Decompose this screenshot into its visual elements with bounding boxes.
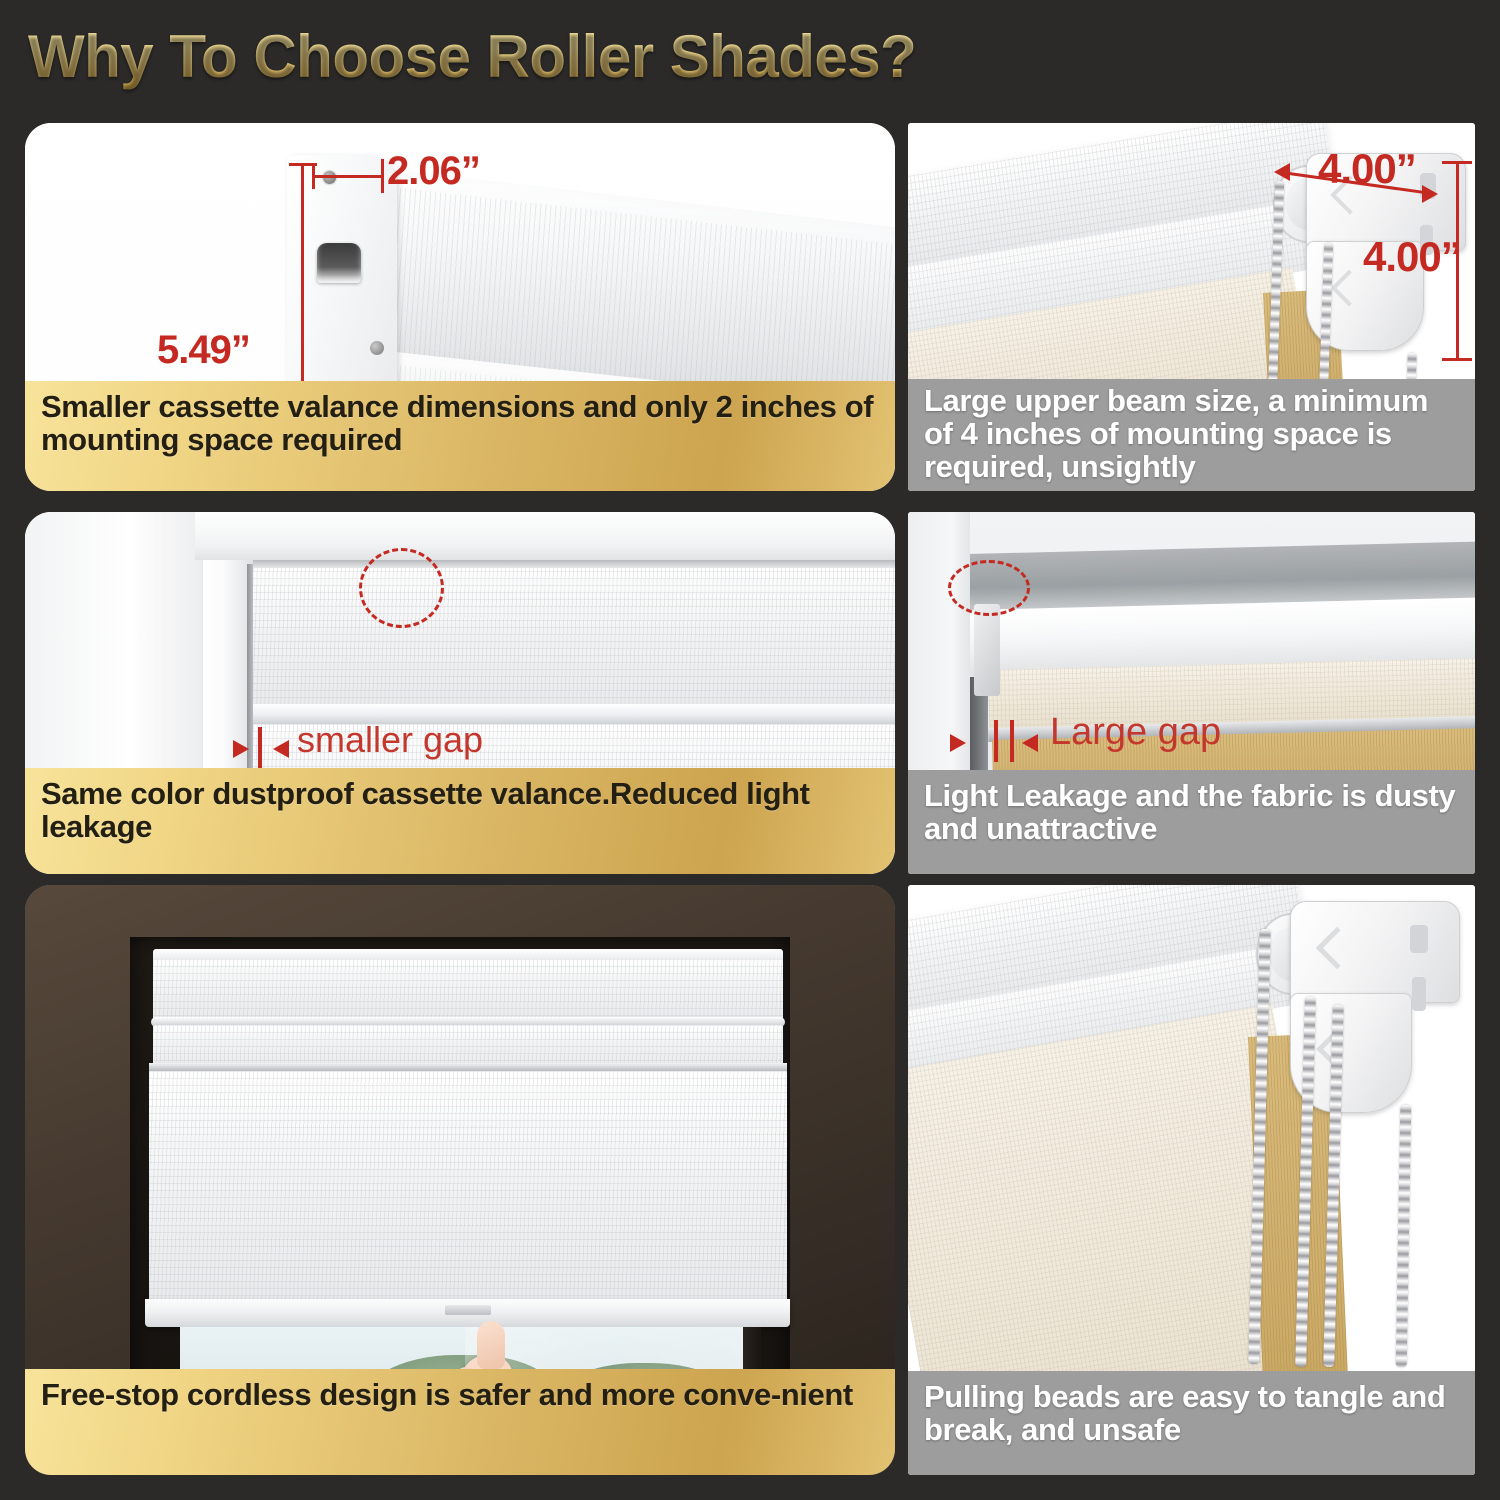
shade-valance (153, 959, 783, 1021)
gap-arrow-left (233, 740, 249, 758)
large-gap-arrow-right (1022, 734, 1038, 752)
dim-width-tick-right (381, 159, 384, 193)
panel-large-beam: 4.00” 4.00” Large upper beam size, a min… (908, 123, 1475, 491)
dim-height-tick-top (289, 163, 317, 166)
page-title: Why To Choose Roller Shades? (28, 22, 916, 91)
shade-valance-lower (153, 1025, 783, 1067)
smaller-gap-label: smaller gap (297, 719, 483, 761)
panel-light-leakage: Large gap Light Leakage and the fabric i… (908, 512, 1475, 874)
shade-fabric-main (149, 1071, 787, 1301)
beam-dim-right-tick-bottom (1442, 358, 1472, 361)
bead-bracket-upper (1290, 901, 1460, 1003)
cassette-valance-band (253, 564, 895, 709)
beam-dim-top-label: 4.00” (1318, 145, 1416, 193)
large-gap-arrow-left (950, 734, 966, 752)
cassette-valance-lip (253, 560, 895, 568)
beam-dim-right-label: 4.00” (1363, 233, 1461, 281)
caption-panel-5: Free-stop cordless design is safer and m… (25, 1369, 895, 1475)
caption-panel-1: Smaller cassette valance dimensions and … (25, 381, 895, 491)
shade-valance-bottom-edge (149, 1063, 787, 1071)
caption-panel-3: Same color dustproof cassette valance.Re… (25, 768, 895, 874)
large-gap-tick-b (1010, 720, 1014, 762)
panel-pulling-beads: Pulling beads are easy to tangle and bre… (908, 885, 1475, 1475)
dim-width-label: 2.06” (387, 149, 480, 194)
leakage-highlight-ellipse (948, 560, 1030, 616)
dim-width-tick-left (312, 163, 315, 189)
caption-panel-4: Light Leakage and the fabric is dusty an… (908, 770, 1475, 874)
dim-height-label: 5.49” (157, 328, 250, 373)
shade-pull-tab-icon (445, 1305, 491, 1315)
screw-mid-icon (370, 341, 384, 355)
dim-width-line (313, 175, 383, 178)
caption-panel-6: Pulling beads are easy to tangle and bre… (908, 1371, 1475, 1475)
highlight-ellipse (359, 548, 444, 628)
beam-dim-right-tick-top (1442, 161, 1472, 164)
panel-smaller-cassette: 2.06” 5.49” Smaller cassette valance dim… (25, 123, 895, 491)
gap-marker-line (258, 727, 262, 769)
bead-bracket-slot-2-icon (1412, 977, 1426, 1011)
window-frame-top (195, 512, 895, 560)
infographic-root: Why To Choose Roller Shades? 2.06” (0, 0, 1500, 1500)
clutch-slot-icon (317, 243, 361, 283)
large-gap-tick-a (994, 720, 998, 762)
panel-dustproof-valance: smaller gap Same color dustproof cassett… (25, 512, 895, 874)
gap-arrow-right (273, 740, 289, 758)
hanging-bead-chain-4 (1396, 1105, 1412, 1367)
panel-cordless-design: Free-stop cordless design is safer and m… (25, 885, 895, 1475)
clutch-bracket-icon (974, 604, 1000, 696)
beam-dim-top-arrow-left (1274, 163, 1290, 181)
hand-finger (477, 1321, 505, 1369)
beam-dim-top-arrow-right (1422, 185, 1438, 203)
large-gap-label: Large gap (1050, 711, 1221, 754)
bead-bracket-slot-1-icon (1410, 925, 1428, 953)
caption-panel-2: Large upper beam size, a minimum of 4 in… (908, 379, 1475, 491)
